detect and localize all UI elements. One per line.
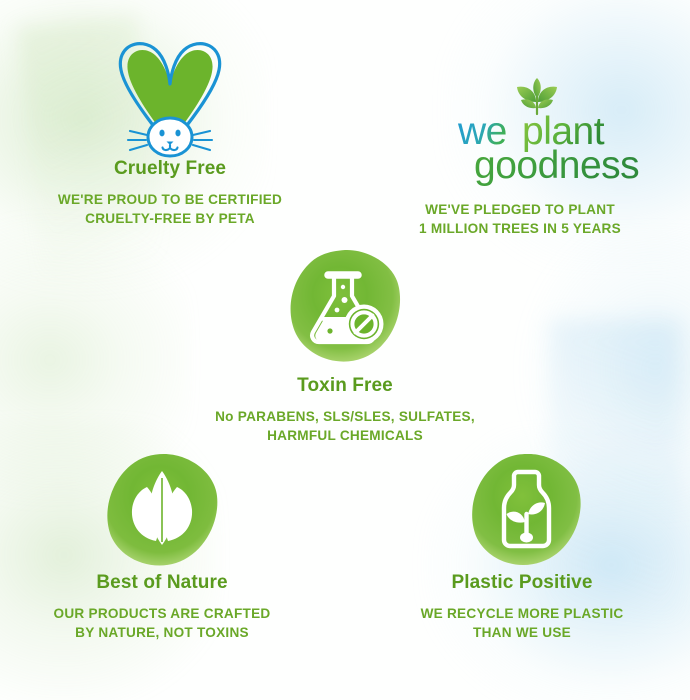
toxin-free-line-1: No PARABENS, SLS/SLES, SULFATES, (175, 407, 515, 426)
feature-toxin-free: Toxin Free No PARABENS, SLS/SLES, SULFAT… (175, 375, 515, 445)
feature-plastic-positive: Plastic Positive WE RECYCLE MORE PLASTIC… (352, 572, 690, 642)
toxin-free-heading: Toxin Free (175, 375, 515, 398)
best-of-nature-heading: Best of Nature (0, 572, 332, 595)
best-of-nature-badge (104, 452, 221, 569)
plastic-positive-heading: Plastic Positive (352, 572, 690, 595)
best-of-nature-line-1: OUR PRODUCTS ARE CRAFTED (0, 604, 332, 623)
feature-cruelty-free: Cruelty Free WE'RE PROUD TO BE CERTIFIED… (0, 158, 340, 228)
cruelty-free-line-2: CRUELTY-FREE BY PETA (0, 209, 340, 228)
plastic-positive-line-1: WE RECYCLE MORE PLASTIC (352, 604, 690, 623)
we-plant-line-1: WE'VE PLEDGED TO PLANT (350, 200, 690, 219)
peta-bunny-icon (110, 34, 230, 164)
cruelty-free-line-1: WE'RE PROUD TO BE CERTIFIED (0, 190, 340, 209)
feature-we-plant-goodness: WE'VE PLEDGED TO PLANT 1 MILLION TREES I… (350, 200, 690, 239)
best-of-nature-line-2: BY NATURE, NOT TOXINS (0, 623, 332, 642)
no-entry-icon (345, 305, 384, 344)
toxin-free-line-2: HARMFUL CHEMICALS (175, 426, 515, 445)
logo-word-goodness: goodness (474, 144, 639, 186)
plastic-positive-line-2: THAN WE USE (352, 623, 690, 642)
sprout-icon (517, 78, 557, 114)
feature-best-of-nature: Best of Nature OUR PRODUCTS ARE CRAFTED … (0, 572, 332, 642)
toxin-free-badge (287, 248, 404, 365)
poster-canvas: Cruelty Free WE'RE PROUD TO BE CERTIFIED… (0, 0, 690, 700)
cruelty-free-heading: Cruelty Free (0, 158, 340, 181)
plastic-positive-badge (468, 452, 585, 569)
we-plant-goodness-logo: we plant goodness (448, 76, 648, 191)
we-plant-line-2: 1 MILLION TREES IN 5 YEARS (350, 219, 690, 238)
